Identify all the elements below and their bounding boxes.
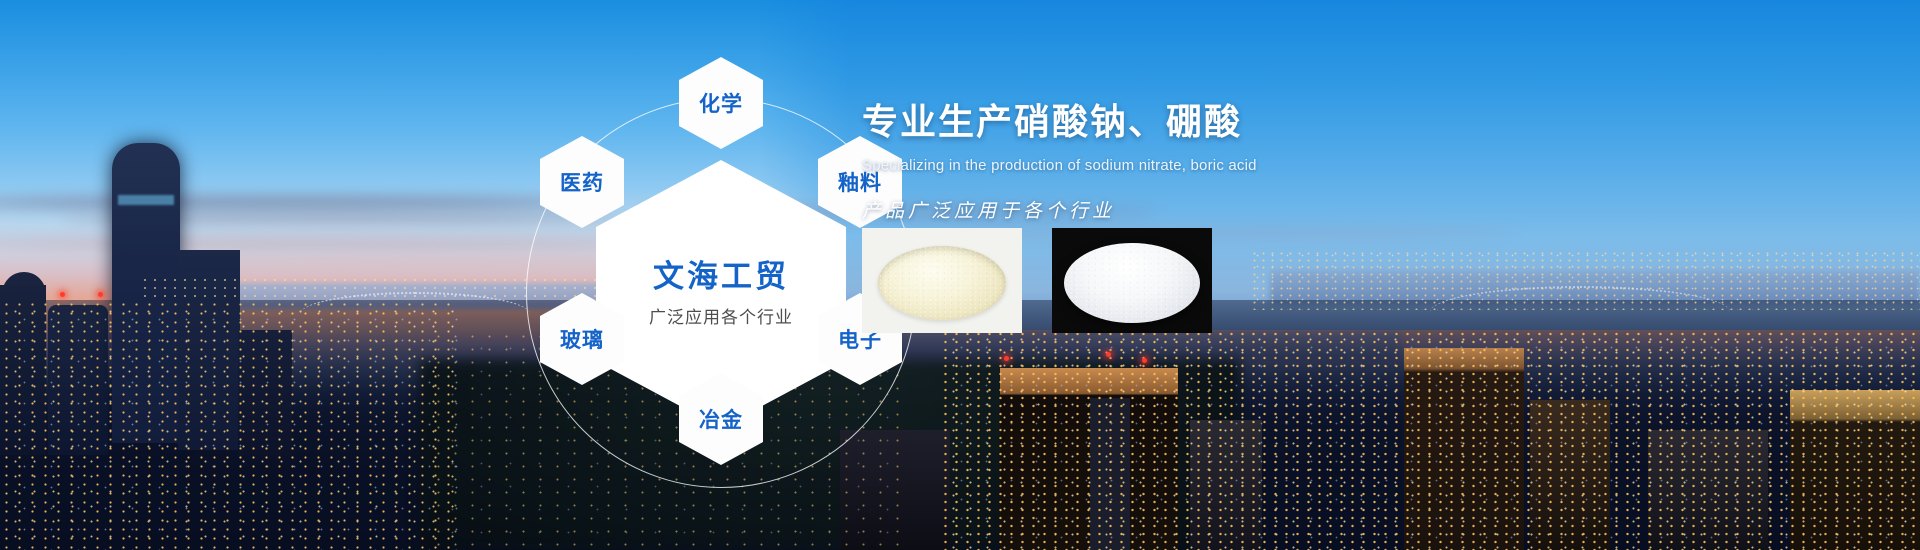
lit-office-building [1404, 348, 1524, 550]
headline-english: Specializing in the production of sodium… [862, 157, 1562, 174]
building [238, 330, 292, 460]
lit-office-building [1000, 368, 1178, 550]
hexagon-label: 化学 [699, 88, 743, 118]
company-slogan: 广泛应用各个行业 [649, 303, 793, 328]
powder-grain-texture [1064, 243, 1200, 323]
building [48, 305, 108, 455]
building [1530, 400, 1610, 550]
product-photo-sodium-nitrate[interactable] [862, 228, 1022, 333]
antenna-beacon [1106, 352, 1111, 357]
building [1648, 430, 1768, 550]
building [1190, 420, 1262, 550]
headline: 专业生产硝酸钠、硼酸 [862, 100, 1562, 143]
product-photo-gallery [862, 228, 1212, 333]
company-name: 文海工贸 [653, 260, 789, 294]
product-photo-boric-acid[interactable] [1052, 228, 1212, 333]
skyscraper-tower [112, 143, 180, 443]
building [1090, 398, 1130, 550]
lit-office-building [1790, 390, 1920, 550]
antenna-beacon [60, 292, 65, 297]
promo-banner: 文海工贸 广泛应用各个行业 化学 釉料 电子 冶金 玻璃 医药 专业生产硝酸钠、… [0, 0, 1920, 550]
antenna-beacon [98, 292, 103, 297]
powder-pile [878, 246, 1006, 320]
tagline: 产品广泛应用于各个行业 [862, 196, 1562, 223]
powder-grain-texture [878, 246, 1006, 320]
building [178, 250, 240, 450]
hexagon-label: 冶金 [699, 404, 743, 434]
hexagon-label: 玻璃 [560, 324, 604, 354]
antenna-beacon [1142, 358, 1147, 363]
powder-pile [1064, 243, 1200, 323]
building [0, 285, 46, 455]
hexagon-label: 医药 [560, 167, 604, 197]
marketing-copy: 专业生产硝酸钠、硼酸 Specializing in the productio… [862, 100, 1562, 223]
